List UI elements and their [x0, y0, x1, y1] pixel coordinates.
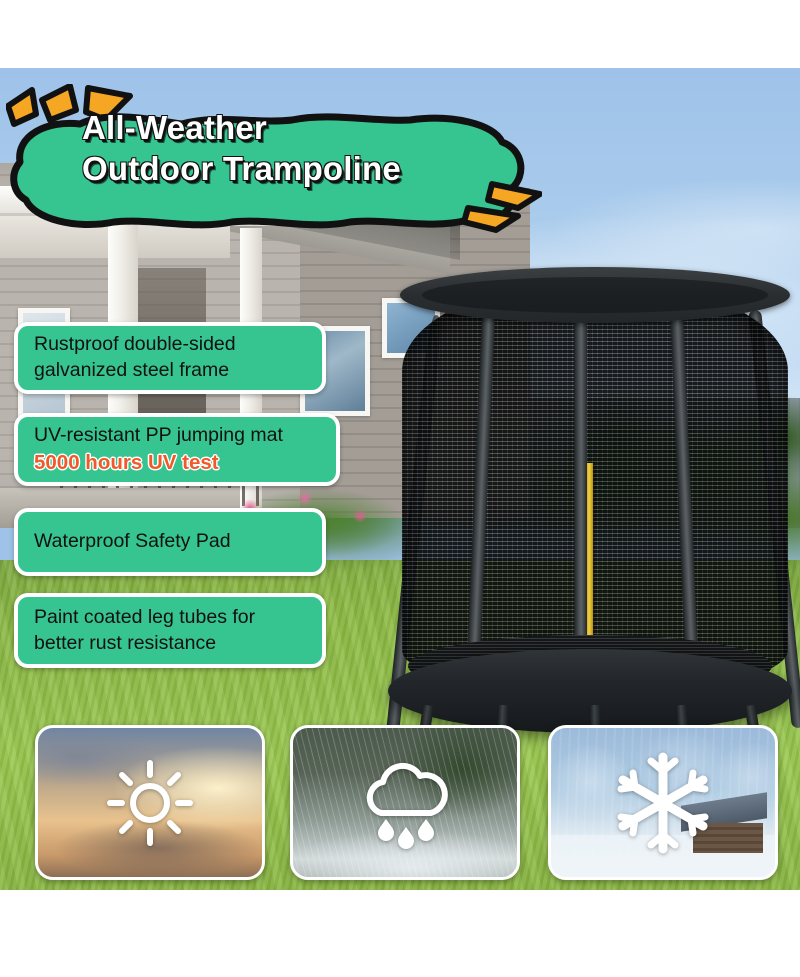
feature-line: galvanized steel frame [34, 358, 306, 384]
feature-line: UV-resistant PP jumping mat [34, 423, 320, 449]
title-banner: All-Weather Outdoor Trampoline [6, 84, 542, 234]
feature-line: better rust resistance [34, 631, 306, 657]
product-poster: All-Weather Outdoor Trampoline Rustproof… [0, 0, 800, 977]
feature-line: Waterproof Safety Pad [34, 529, 306, 555]
trampoline-product [378, 253, 800, 773]
weather-card-rain [290, 725, 520, 880]
weather-card-snow [548, 725, 778, 880]
feature-box: Paint coated leg tubes for better rust r… [14, 593, 326, 668]
feature-box: Waterproof Safety Pad [14, 508, 326, 576]
feature-line: Paint coated leg tubes for [34, 605, 306, 631]
poster-title: All-Weather Outdoor Trampoline [82, 108, 522, 190]
feature-line-highlight: 5000 hours UV test [34, 449, 320, 476]
rain-cloud-icon [353, 757, 457, 849]
net-top-ring-inner [422, 277, 768, 313]
enclosure-pole [574, 275, 587, 695]
enclosure-net [402, 281, 788, 691]
feature-line: Rustproof double-sided [34, 332, 306, 358]
weather-card-sun [35, 725, 265, 880]
feature-box: Rustproof double-sided galvanized steel … [14, 322, 326, 394]
title-line-2: Outdoor Trampoline [82, 149, 522, 190]
sun-icon [104, 757, 196, 849]
title-line-1: All-Weather [82, 108, 522, 149]
feature-box: UV-resistant PP jumping mat 5000 hours U… [14, 413, 340, 486]
snowflake-icon [611, 751, 715, 855]
